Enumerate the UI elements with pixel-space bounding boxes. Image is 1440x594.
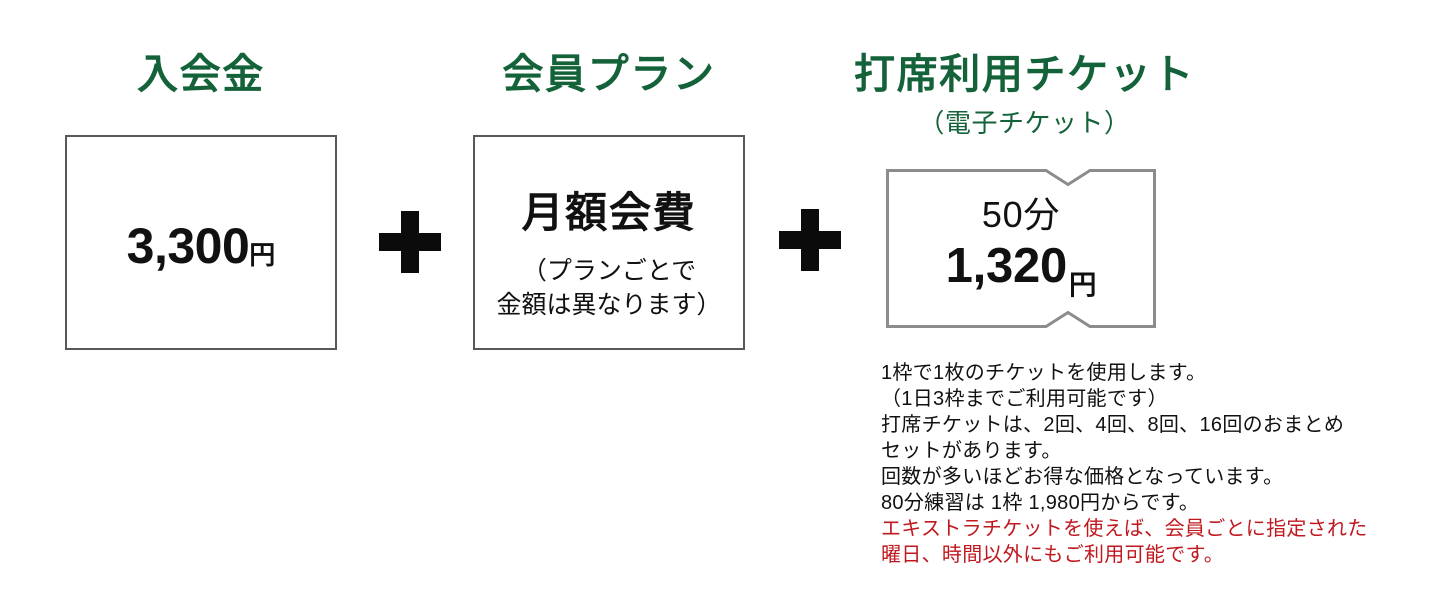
ticket-price-currency: 円: [1069, 269, 1096, 300]
ticket-notes-block: 1枠で1枚のチケットを使用します。 （1日3枠までご利用可能です） 打席チケット…: [881, 360, 1421, 568]
monthly-fee-note: （プランごとで 金額は異なります）: [475, 255, 743, 322]
bay-ticket-box: 50分 1,320円: [886, 169, 1156, 328]
note-line: セットがあります。: [881, 438, 1421, 464]
monthly-fee-note-line-1: （プランごとで: [475, 255, 743, 289]
note-line-highlighted: 曜日、時間以外にもご利用可能です。: [881, 542, 1421, 568]
note-line: 1枠で1枚のチケットを使用します。: [881, 360, 1421, 386]
monthly-fee-note-line-2: 金額は異なります）: [475, 289, 743, 323]
enrollment-fee-box: 3,300円: [65, 135, 337, 350]
note-line: 80分練習は 1枠 1,980円からです。: [881, 490, 1421, 516]
ticket-duration: 50分: [886, 197, 1156, 233]
plus-sign-2: [779, 209, 841, 271]
membership-plan-box: 月額会費 （プランごとで 金額は異なります）: [473, 135, 745, 350]
enrollment-fee-amount: 3,300: [127, 218, 250, 274]
plus-sign-1: [379, 211, 441, 273]
enrollment-fee-currency: 円: [249, 240, 275, 270]
column-heading-membership-plan: 会員プラン: [473, 54, 745, 95]
ticket-content: 50分 1,320円: [886, 169, 1156, 328]
pricing-diagram: 入会金 3,300円 会員プラン 月額会費 （プランごとで 金額は異なります） …: [0, 0, 1440, 594]
ticket-price-amount: 1,320: [946, 239, 1067, 293]
column-subheading-electronic-ticket: （電子チケット）: [852, 110, 1197, 136]
column-heading-enrollment-fee: 入会金: [65, 54, 337, 95]
note-line-highlighted: エキストラチケットを使えば、会員ごとに指定された: [881, 516, 1421, 542]
monthly-fee-title: 月額会費: [475, 192, 743, 234]
note-line: 打席チケットは、2回、4回、8回、16回のおまとめ: [881, 412, 1421, 438]
note-line: （1日3枠までご利用可能です）: [881, 386, 1421, 412]
ticket-price: 1,320円: [886, 242, 1156, 298]
note-line: 回数が多いほどお得な価格となっています。: [881, 464, 1421, 490]
enrollment-fee-price: 3,300円: [67, 221, 335, 271]
column-heading-bay-ticket: 打席利用チケット: [852, 54, 1197, 95]
